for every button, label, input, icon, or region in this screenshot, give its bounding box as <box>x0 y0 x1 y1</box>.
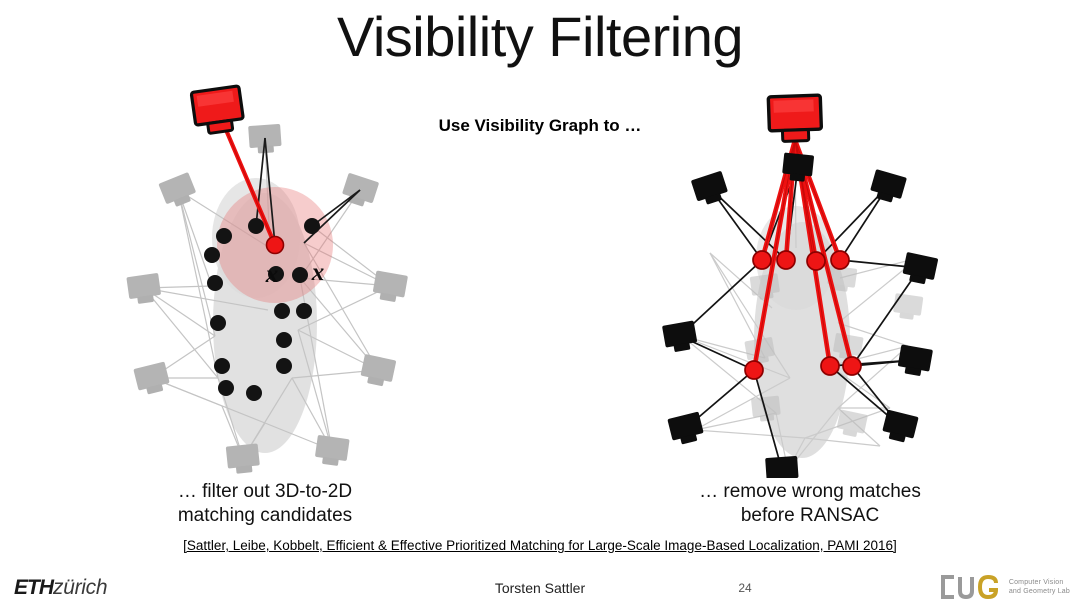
camera-icon <box>158 172 198 210</box>
camera-icon <box>662 320 698 353</box>
camera-icon <box>881 410 919 445</box>
camera-icon <box>126 273 162 305</box>
camera-icon <box>133 362 171 397</box>
cvg-lab-line: Computer Vision <box>1009 578 1070 587</box>
visibility-graph-left-figure: x x <box>60 78 480 478</box>
camera-icon <box>667 412 705 447</box>
caption-line: … filter out 3D-to-2D <box>55 480 475 504</box>
matched-3d-point-red <box>267 237 284 254</box>
reject-mark-x: x <box>265 261 279 288</box>
camera-icon <box>897 344 933 377</box>
caption-line: before RANSAC <box>600 504 1020 528</box>
cvg-lab-line: and Geometry Lab <box>1009 587 1070 596</box>
camera-icon <box>836 409 868 438</box>
page-number: 24 <box>730 581 760 595</box>
camera-icon <box>372 270 408 303</box>
camera-icon <box>901 252 938 286</box>
camera-icon <box>359 354 396 388</box>
page-title: Visibility Filtering <box>0 8 1080 67</box>
right-graph-svg <box>590 78 1010 478</box>
right-panel-caption: … remove wrong matches before RANSAC <box>600 480 1020 529</box>
camera-icon <box>765 456 799 478</box>
query-camera-red-icon <box>191 86 245 135</box>
cvg-lab-logo: Computer Vision and Geometry Lab <box>940 572 1070 602</box>
left-panel-caption: … filter out 3D-to-2D matching candidate… <box>55 480 475 529</box>
left-graph-svg: x x <box>60 78 480 478</box>
visibility-graph-right-figure <box>590 78 1010 478</box>
caption-line: … remove wrong matches <box>600 480 1020 504</box>
presenter-name: Torsten Sattler <box>0 580 1080 596</box>
slide-canvas: Visibility Filtering Use Visibility Grap… <box>0 0 1080 607</box>
camera-icon <box>892 293 923 321</box>
query-camera-red-icon <box>768 95 822 142</box>
camera-icon <box>226 443 261 474</box>
slide-footer: ETHzürich Torsten Sattler 24 Computer Vi… <box>0 568 1080 607</box>
citation-reference[interactable]: [Sattler, Leibe, Kobbelt, Efficient & Ef… <box>0 538 1080 553</box>
caption-line: matching candidates <box>55 504 475 528</box>
cvg-lab-text: Computer Vision and Geometry Lab <box>1009 578 1070 596</box>
camera-icon <box>314 435 350 467</box>
reject-mark-x: x <box>311 259 325 286</box>
cvg-logo-mark <box>940 574 1002 600</box>
